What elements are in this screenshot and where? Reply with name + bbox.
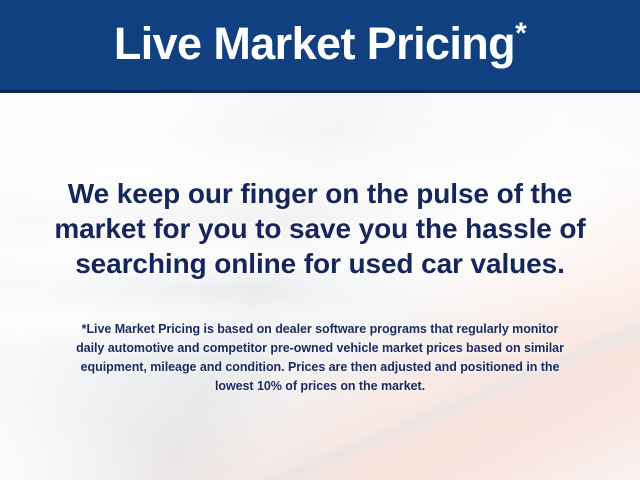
headline-line-1: We keep our finger on the pulse of the <box>0 176 640 211</box>
header-banner: Live Market Pricing* <box>0 0 640 93</box>
headline-line-3: searching online for used car values. <box>0 246 640 281</box>
live-market-pricing-ad: Live Market Pricing* We keep our finger … <box>0 0 640 480</box>
banner-title: Live Market Pricing* <box>114 21 526 70</box>
disclaimer-line-2: daily automotive and competitor pre-owne… <box>0 339 640 358</box>
disclaimer: *Live Market Pricing is based on dealer … <box>0 320 640 396</box>
banner-title-text: Live Market Pricing <box>114 18 515 69</box>
disclaimer-line-3: equipment, mileage and condition. Prices… <box>0 358 640 377</box>
headline-line-2: market for you to save you the hassle of <box>0 211 640 246</box>
headline: We keep our finger on the pulse of the m… <box>0 176 640 281</box>
disclaimer-line-4: lowest 10% of prices on the market. <box>0 377 640 396</box>
banner-footnote-marker: * <box>515 17 526 50</box>
disclaimer-line-1: *Live Market Pricing is based on dealer … <box>0 320 640 339</box>
